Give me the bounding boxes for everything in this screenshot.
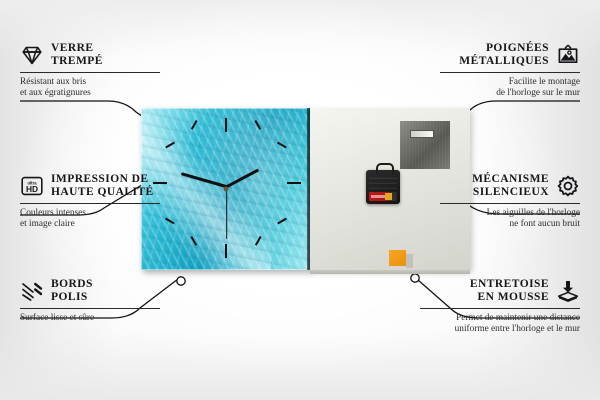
metal-hanger-plate [400, 121, 450, 169]
feature-title-line1: BORDS [51, 278, 93, 291]
feature-bords-polis: BORDS POLIS Surface lisse et sûre [20, 278, 160, 324]
polished-edges-icon [20, 279, 44, 303]
feature-title-line2: HAUTE QUALITÉ [51, 186, 154, 199]
clock-face-front [141, 108, 311, 270]
feature-desc-line1: Couleurs intenses [20, 208, 160, 219]
feature-title-line1: VERRE [51, 42, 103, 55]
second-hand [226, 187, 227, 239]
feature-mecanisme-silencieux: MÉCANISME SILENCIEUX Les aiguilles de l'… [440, 173, 580, 230]
divider [440, 203, 580, 204]
foam-spacer-icon [556, 279, 580, 303]
divider [20, 308, 160, 309]
diamond-icon [20, 43, 44, 67]
feature-title-line1: IMPRESSION DE [51, 173, 154, 186]
feature-title-line2: TREMPÉ [51, 55, 103, 68]
mechanism-hook [376, 163, 394, 174]
feature-verre-trempe: VERRE TREMPÉ Résistant aux bris et aux é… [20, 42, 160, 99]
feature-title-line2: SILENCIEUX [472, 186, 549, 199]
feature-desc-line2: de l'horloge sur le mur [440, 88, 580, 99]
feature-desc-line2: ne font aucun bruit [440, 219, 580, 230]
infographic-canvas: VERRE TREMPÉ Résistant aux bris et aux é… [0, 0, 600, 400]
feature-title-line1: POIGNÉES [459, 42, 549, 55]
feature-title-line2: MÉTALLIQUES [459, 55, 549, 68]
picture-hanger-icon [556, 43, 580, 67]
feature-desc-line2: et aux égratignures [20, 88, 160, 99]
feature-impression-hd: ultra HD IMPRESSION DE HAUTE QUALITÉ Cou… [20, 173, 160, 230]
divider [20, 203, 160, 204]
gear-icon [556, 174, 580, 198]
divider [420, 308, 580, 309]
divider [20, 72, 160, 73]
feature-title-line1: ENTRETOISE [470, 278, 549, 291]
clock-mechanism [366, 170, 400, 204]
svg-text:HD: HD [26, 184, 38, 194]
feature-poignees-metalliques: POIGNÉES MÉTALLIQUES Facilite le montage… [440, 42, 580, 99]
feature-entretoise-en-mousse: ENTRETOISE EN MOUSSE Permet de maintenir… [420, 278, 580, 335]
clock-pivot [224, 187, 229, 192]
feature-title-line1: MÉCANISME [472, 173, 549, 186]
feature-desc-line2: et image claire [20, 219, 160, 230]
feature-desc-line1: Résistant aux bris [20, 77, 160, 88]
divider [440, 72, 580, 73]
feature-desc-line1: Surface lisse et sûre [20, 313, 160, 324]
feature-title-line2: EN MOUSSE [470, 291, 549, 304]
feature-title-line2: POLIS [51, 291, 93, 304]
feature-desc-line2: uniforme entre l'horloge et le mur [420, 324, 580, 335]
foam-spacer [389, 250, 406, 266]
feature-desc-line1: Permet de maintenir une distance [420, 313, 580, 324]
battery [369, 192, 397, 201]
product-image [141, 108, 470, 270]
feature-desc-line1: Facilite le montage [440, 77, 580, 88]
feature-desc-line1: Les aiguilles de l'horloge [440, 208, 580, 219]
ultra-hd-icon: ultra HD [20, 174, 44, 198]
